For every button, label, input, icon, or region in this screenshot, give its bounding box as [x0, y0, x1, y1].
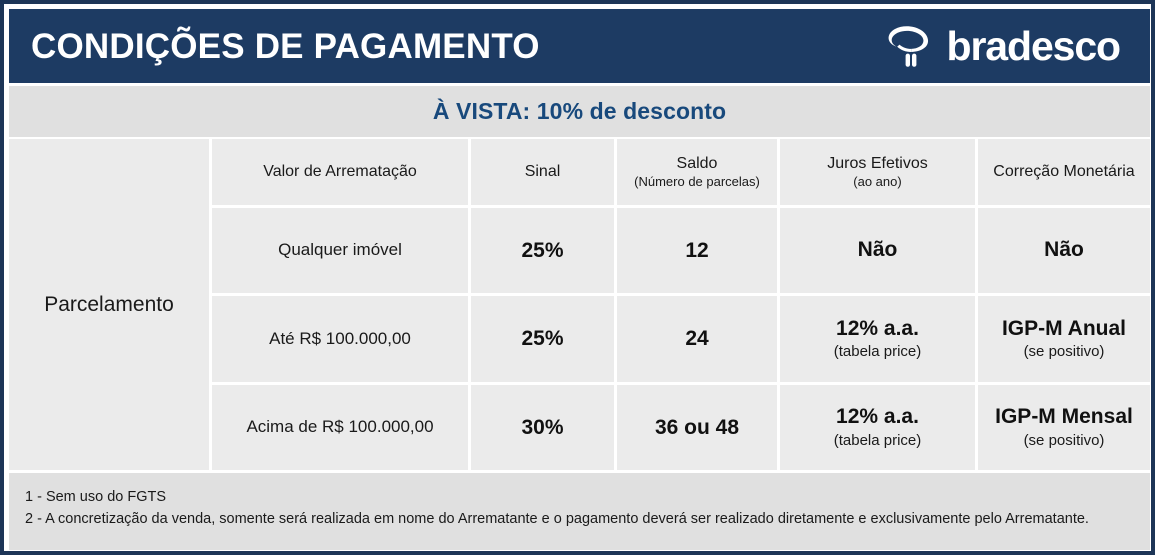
column-header-juros-label: Juros Efetivos: [827, 155, 927, 173]
cell-juros: Não: [780, 208, 975, 293]
cell-correcao-text: IGP-M Anual: [1002, 316, 1126, 341]
cell-saldo: 12: [617, 208, 777, 293]
page-title: CONDIÇÕES DE PAGAMENTO: [31, 29, 540, 64]
cell-valor: Acima de R$ 100.000,00: [212, 385, 468, 470]
column-header-saldo: Saldo (Número de parcelas): [617, 139, 777, 205]
brand-logo: bradesco: [884, 20, 1127, 72]
cell-sinal: 25%: [471, 208, 614, 293]
cell-saldo-text: 36 ou 48: [655, 415, 739, 440]
cell-juros: 12% a.a. (tabela price): [780, 296, 975, 381]
row-group-label-text: Parcelamento: [44, 292, 174, 317]
column-header-juros: Juros Efetivos (ao ano): [780, 139, 975, 205]
cell-sinal: 25%: [471, 296, 614, 381]
cell-juros-note: (tabela price): [834, 432, 922, 451]
cell-saldo: 36 ou 48: [617, 385, 777, 470]
conditions-table: Parcelamento Valor de Arrematação Sinal …: [9, 139, 1150, 470]
column-header-saldo-sublabel: (Número de parcelas): [634, 174, 760, 190]
cell-juros-note: (tabela price): [834, 343, 922, 362]
row-group-label: Parcelamento: [9, 139, 209, 470]
discount-banner-text: À VISTA: 10% de desconto: [433, 98, 726, 125]
cell-sinal: 30%: [471, 385, 614, 470]
cell-correcao: Não: [978, 208, 1150, 293]
footnote-1: 1 - Sem uso do FGTS: [25, 486, 1150, 508]
payment-conditions-sheet: CONDIÇÕES DE PAGAMENTO bradesco À VISTA:…: [0, 0, 1155, 555]
cell-valor-text: Até R$ 100.000,00: [269, 329, 411, 349]
column-header-correcao: Correção Monetária: [978, 139, 1150, 205]
cell-juros: 12% a.a. (tabela price): [780, 385, 975, 470]
table-row: Até R$ 100.000,00 25% 24 12% a.a. (tabel…: [212, 296, 1150, 381]
cell-juros-text: 12% a.a.: [836, 316, 919, 341]
cell-correcao: IGP-M Mensal (se positivo): [978, 385, 1150, 470]
cell-saldo-text: 12: [685, 238, 708, 263]
table-grid: Valor de Arrematação Sinal Saldo (Número…: [212, 139, 1150, 470]
header-band: CONDIÇÕES DE PAGAMENTO bradesco: [9, 9, 1150, 83]
table-row: Acima de R$ 100.000,00 30% 36 ou 48 12% …: [212, 385, 1150, 470]
table-row: Qualquer imóvel 25% 12 Não Não: [212, 208, 1150, 293]
column-header-valor: Valor de Arrematação: [212, 139, 468, 205]
cell-sinal-text: 25%: [521, 326, 563, 351]
cell-valor: Até R$ 100.000,00: [212, 296, 468, 381]
footnote-2: 2 - A concretização da venda, somente se…: [25, 508, 1150, 530]
cell-valor: Qualquer imóvel: [212, 208, 468, 293]
column-header-juros-sublabel: (ao ano): [853, 174, 901, 190]
cell-juros-text: Não: [858, 237, 898, 262]
cell-valor-text: Acima de R$ 100.000,00: [246, 417, 433, 437]
column-header-saldo-label: Saldo: [677, 155, 718, 173]
cell-sinal-text: 25%: [521, 238, 563, 263]
column-header-valor-label: Valor de Arrematação: [263, 163, 417, 181]
cell-sinal-text: 30%: [521, 415, 563, 440]
cell-correcao-note: (se positivo): [1024, 432, 1105, 451]
cell-valor-text: Qualquer imóvel: [278, 240, 402, 260]
cell-juros-text: 12% a.a.: [836, 404, 919, 429]
bradesco-tree-logo-icon: [884, 20, 938, 72]
discount-banner: À VISTA: 10% de desconto: [9, 86, 1150, 137]
column-header-sinal-label: Sinal: [525, 163, 561, 181]
cell-saldo: 24: [617, 296, 777, 381]
table-header-row: Valor de Arrematação Sinal Saldo (Número…: [212, 139, 1150, 205]
cell-correcao: IGP-M Anual (se positivo): [978, 296, 1150, 381]
footnotes: 1 - Sem uso do FGTS 2 - A concretização …: [9, 473, 1150, 550]
cell-saldo-text: 24: [685, 326, 708, 351]
column-header-sinal: Sinal: [471, 139, 614, 205]
brand-name: bradesco: [947, 26, 1121, 67]
cell-correcao-text: IGP-M Mensal: [995, 404, 1133, 429]
cell-correcao-text: Não: [1044, 237, 1084, 262]
cell-correcao-note: (se positivo): [1024, 343, 1105, 362]
column-header-correcao-label: Correção Monetária: [993, 163, 1134, 181]
